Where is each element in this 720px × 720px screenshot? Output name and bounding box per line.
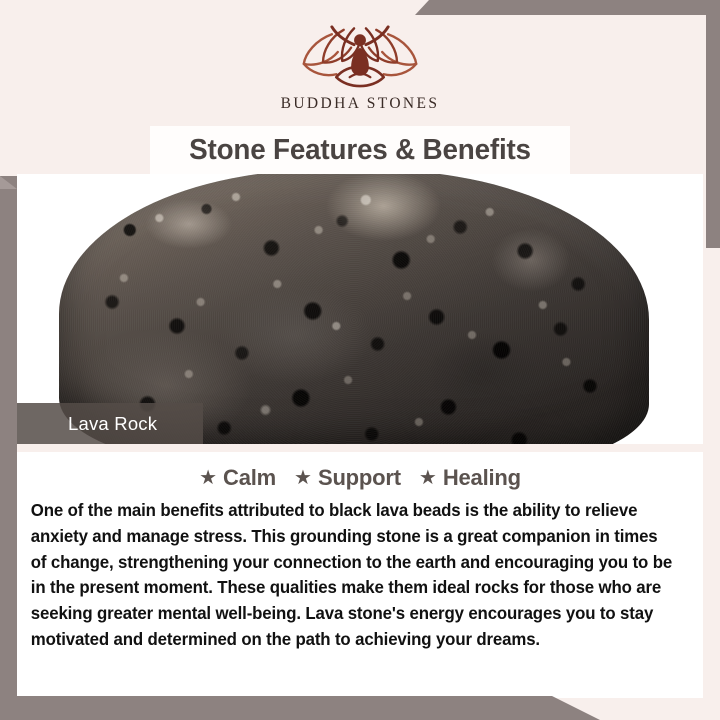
benefit-tag-label: Support — [318, 465, 401, 491]
decor-top-right-bar — [415, 0, 720, 15]
star-icon: ★ — [419, 468, 437, 488]
photo-caption-chip: Lava Rock — [17, 403, 203, 444]
lotus-meditation-figure-icon — [285, 18, 435, 92]
brand-name: BUDDHA STONES — [0, 95, 720, 113]
benefit-tag-support: ★ Support — [294, 465, 401, 491]
benefit-tag-calm: ★ Calm — [199, 465, 276, 491]
benefit-tag-label: Calm — [223, 465, 276, 491]
stone-name-label: Lava Rock — [17, 413, 157, 435]
stone-info-poster: BUDDHA STONES Stone Features & Benefits … — [0, 0, 720, 720]
brand-header: BUDDHA STONES — [0, 18, 720, 113]
page-title: Stone Features & Benefits — [189, 134, 531, 167]
description-text: One of the main benefits attributed to b… — [17, 491, 693, 653]
title-banner: Stone Features & Benefits — [150, 126, 570, 174]
star-icon: ★ — [294, 468, 312, 488]
decor-right-vertical-bar — [706, 0, 720, 248]
decor-left-vertical-bar — [0, 176, 17, 698]
benefit-tag-healing: ★ Healing — [419, 465, 521, 491]
decor-bottom-bar — [0, 696, 600, 720]
benefit-tag-row: ★ Calm ★ Support ★ Healing — [17, 452, 703, 491]
benefit-tag-label: Healing — [443, 465, 521, 491]
stone-photo-panel: Lava Rock — [17, 174, 703, 444]
stone-description-panel: ★ Calm ★ Support ★ Healing One of the ma… — [17, 452, 703, 698]
star-icon: ★ — [199, 468, 217, 488]
